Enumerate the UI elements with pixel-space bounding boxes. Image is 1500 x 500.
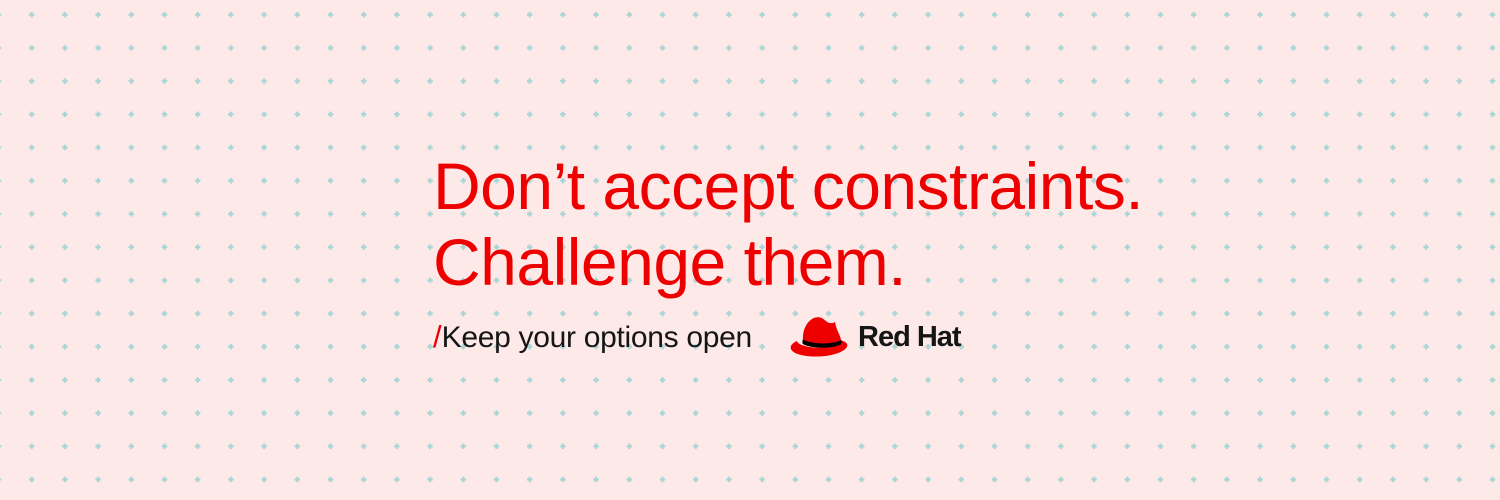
red-hat-promo-banner: Don’t accept constraints. Challenge them… bbox=[0, 0, 1500, 500]
red-hat-fedora-icon bbox=[790, 313, 856, 361]
headline-line-1: Don’t accept constraints. bbox=[433, 148, 1153, 224]
red-hat-wordmark: Red Hat bbox=[858, 320, 978, 354]
tagline-and-logo-row: / Keep your options open Red Hat bbox=[433, 313, 978, 361]
headline-block: Don’t accept constraints. Challenge them… bbox=[433, 148, 1153, 300]
headline-line-2: Challenge them. bbox=[433, 224, 1153, 300]
tagline-text: Keep your options open bbox=[442, 322, 752, 353]
red-hat-logo: Red Hat bbox=[790, 313, 978, 361]
red-hat-wordmark-text: Red Hat bbox=[858, 321, 962, 353]
tagline: / Keep your options open bbox=[433, 321, 752, 353]
slash-accent: / bbox=[433, 321, 442, 352]
